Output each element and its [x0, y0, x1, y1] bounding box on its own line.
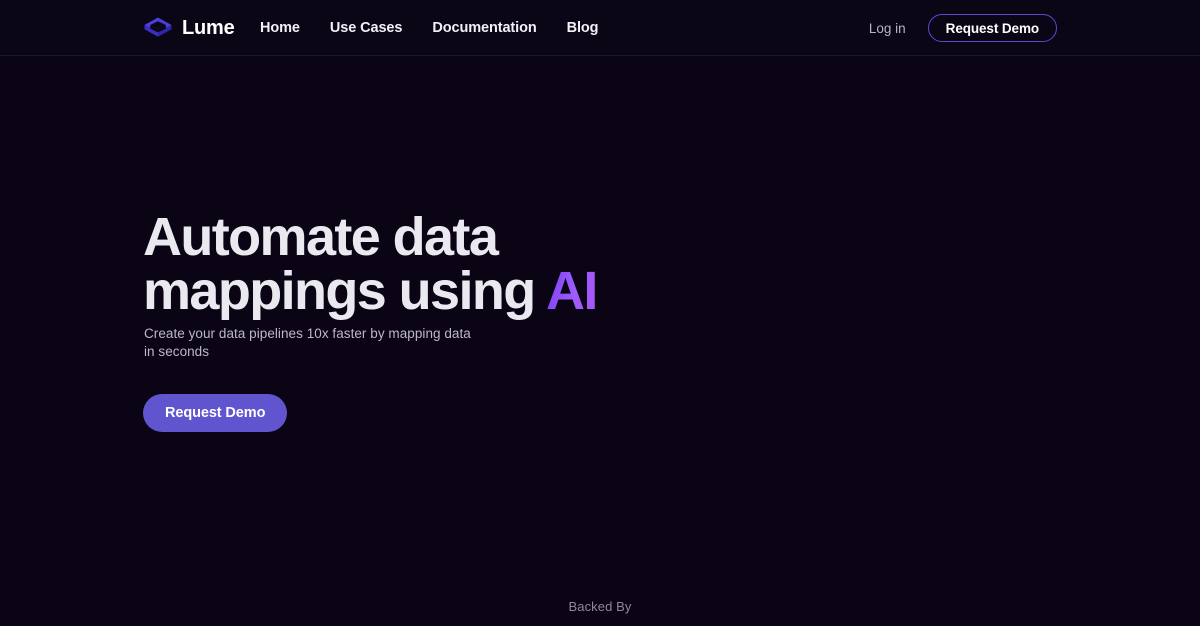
nav-item-documentation[interactable]: Documentation	[432, 20, 536, 36]
headline-highlight-ai: AI	[546, 261, 597, 321]
hero-section: Automate datamappings using AI Create yo…	[0, 56, 1200, 626]
backed-by-label: Backed By	[0, 599, 1200, 614]
headline-line-1: Automate data	[143, 207, 497, 267]
hero-request-demo-button[interactable]: Request Demo	[143, 394, 287, 432]
primary-nav: Home Use Cases Documentation Blog	[260, 0, 598, 56]
site-header: Lume Home Use Cases Documentation Blog L…	[0, 0, 1200, 56]
headline-line-2: mappings using	[143, 261, 546, 321]
nav-item-home[interactable]: Home	[260, 20, 300, 36]
brand-logo-link[interactable]: Lume	[143, 0, 235, 56]
nav-item-blog[interactable]: Blog	[567, 20, 599, 36]
login-link[interactable]: Log in	[869, 21, 906, 36]
brand-name: Lume	[182, 18, 235, 38]
page-title: Automate datamappings using AI	[143, 210, 597, 318]
nav-item-use-cases[interactable]: Use Cases	[330, 20, 402, 36]
header-actions: Log in Request Demo	[869, 0, 1057, 56]
hero-subtitle: Create your data pipelines 10x faster by…	[144, 325, 471, 360]
isometric-cube-icon	[143, 16, 173, 40]
header-request-demo-button[interactable]: Request Demo	[928, 14, 1057, 42]
page-root: Lume Home Use Cases Documentation Blog L…	[0, 0, 1200, 626]
